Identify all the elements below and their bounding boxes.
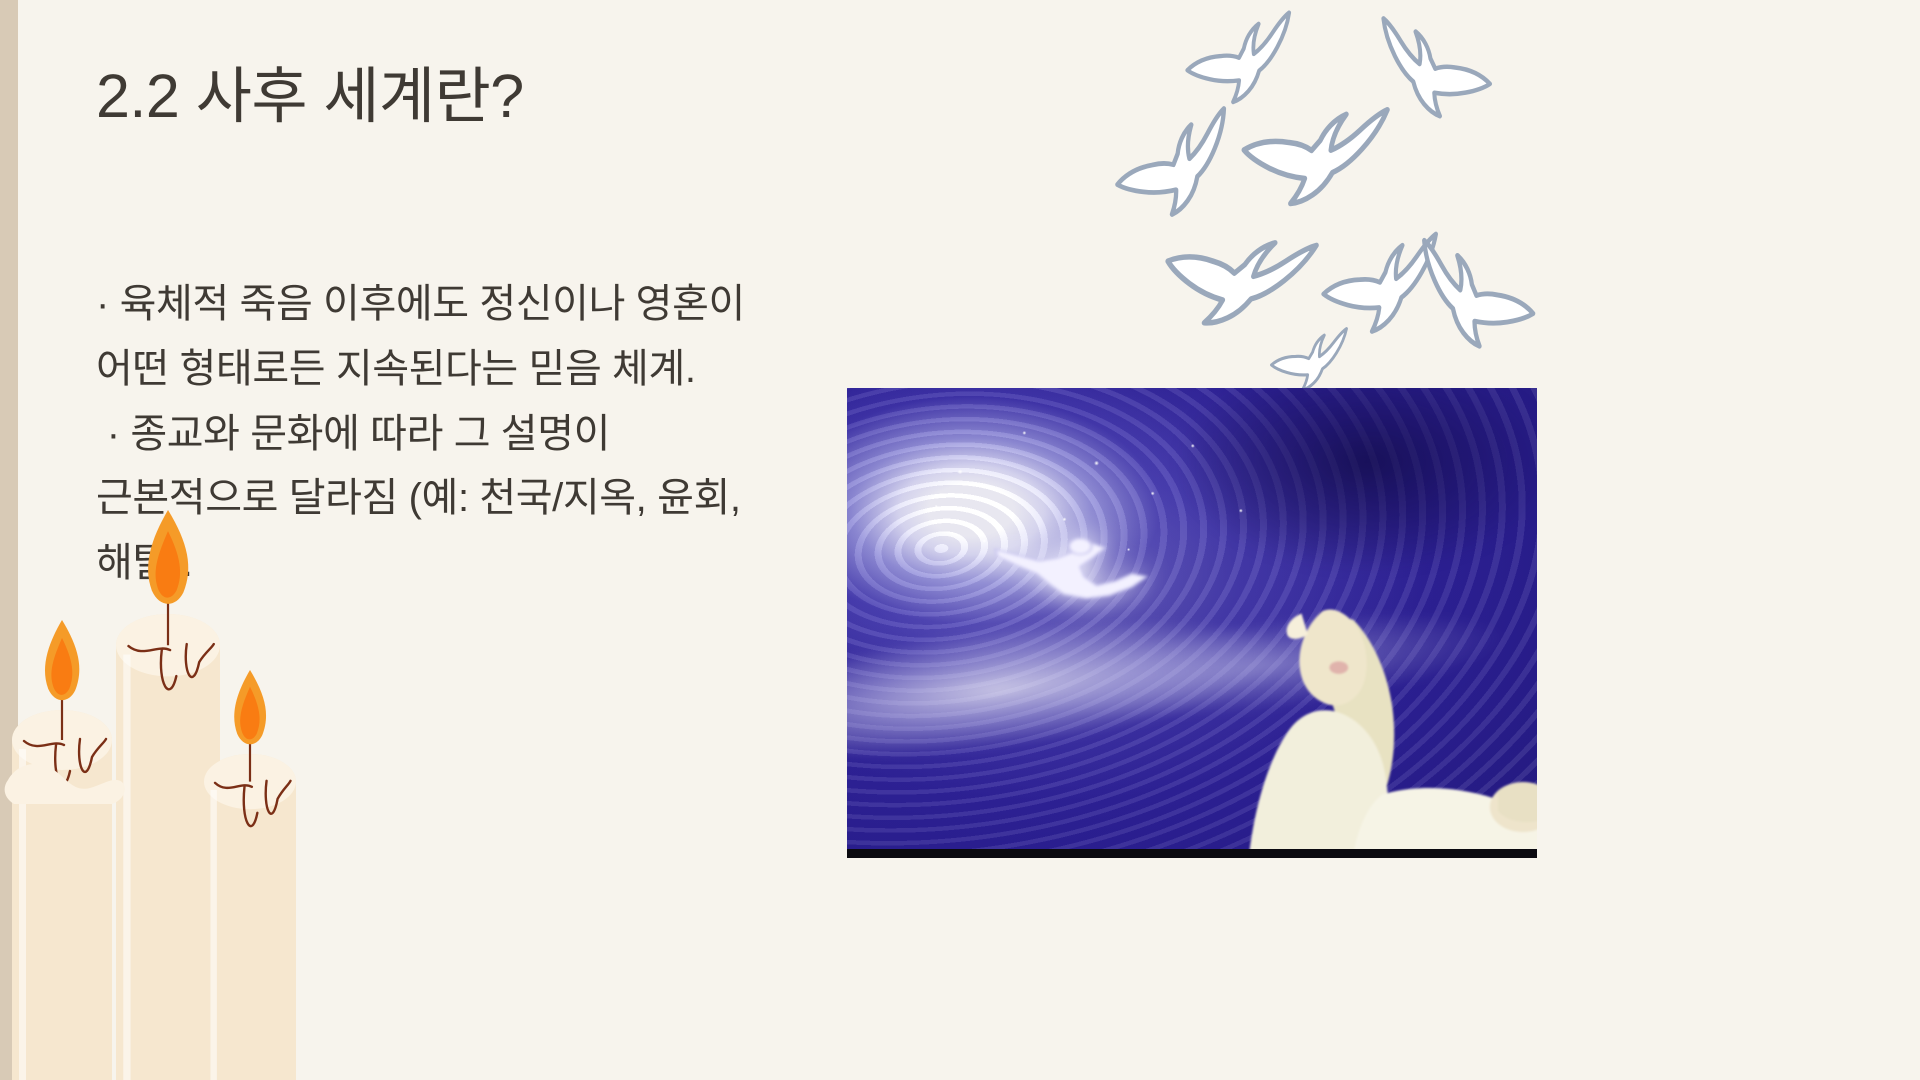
afterlife-soul-photo [847, 388, 1537, 858]
dove-4 [1239, 95, 1388, 212]
flying-doves-illustration [1000, 0, 1920, 400]
dove-1 [1181, 13, 1300, 108]
candle-illustration [0, 480, 340, 1080]
page-title: 2.2 사후 세계란? [96, 62, 524, 130]
slide: 2.2 사후 세계란? · 육체적 죽음 이후에도 정신이나 영혼이 어떤 형태… [0, 0, 1920, 1080]
photo-bottom-bar [847, 849, 1537, 858]
dove-3 [1106, 109, 1246, 226]
dove-5 [1154, 207, 1316, 346]
doves-svg [1000, 0, 1920, 400]
candle-left [12, 620, 112, 1080]
candle-highlight [123, 655, 130, 1080]
reclining-woman-figure [1227, 576, 1538, 858]
soul-figure-icon [985, 529, 1192, 623]
dove-7 [1405, 240, 1543, 355]
candle-highlight [210, 790, 216, 1080]
photo-inner [847, 388, 1537, 858]
candles-svg [0, 480, 340, 1080]
dove-8 [1269, 329, 1350, 393]
